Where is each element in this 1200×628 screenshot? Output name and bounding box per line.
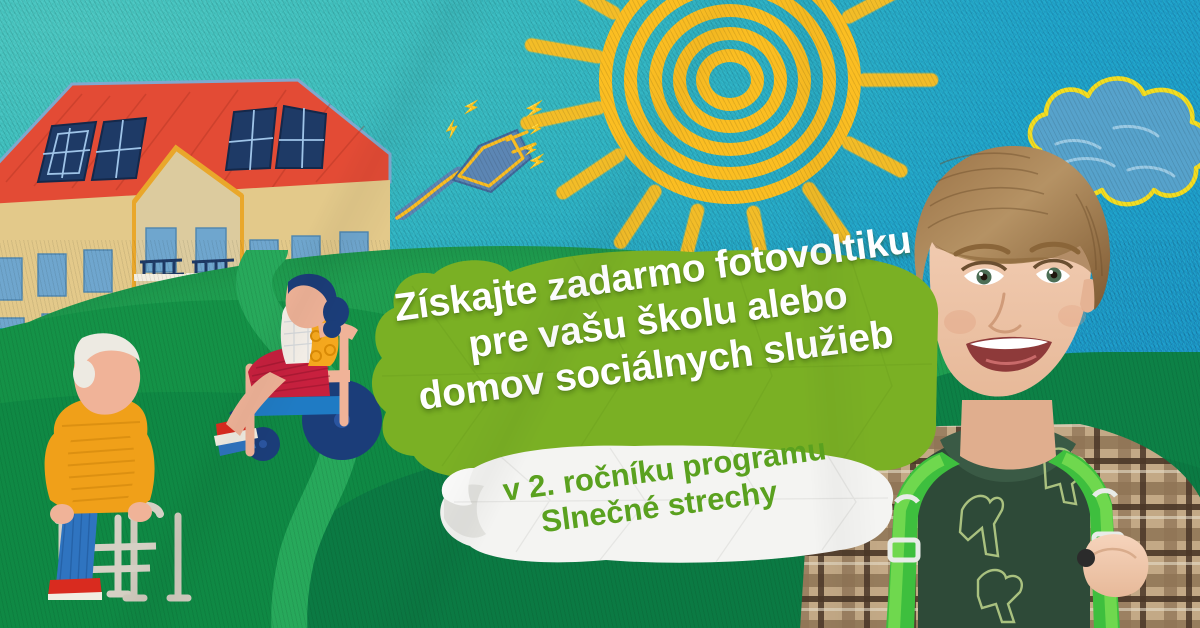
spark-icon: ⚡ — [461, 98, 482, 117]
solar-roofs-banner-ad: ⚡ ⚡ ⚡ ⚡ ⚡ ⚡ — [0, 0, 1200, 628]
spark-icon: ⚡ — [521, 98, 547, 120]
sun-ray — [858, 74, 938, 87]
subbanner-paper — [430, 442, 900, 567]
sun-ray — [536, 0, 622, 22]
sun-ray — [524, 37, 605, 64]
spark-icon: ⚡ — [527, 120, 546, 136]
